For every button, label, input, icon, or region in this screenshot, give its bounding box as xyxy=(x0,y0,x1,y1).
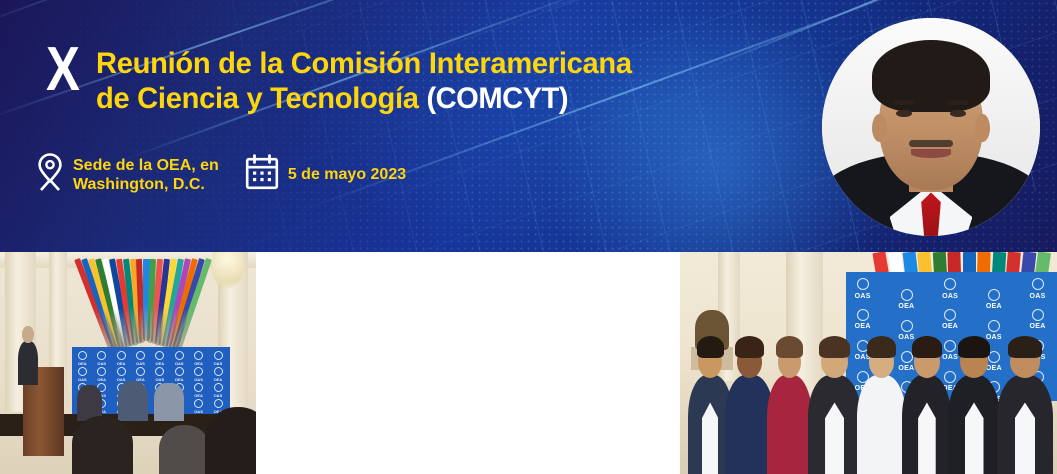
location-text: Sede de la OEA, en Washington, D.C. xyxy=(73,156,219,194)
panelist xyxy=(154,383,185,421)
location-line-2: Washington, D.C. xyxy=(73,175,219,194)
delegate xyxy=(767,336,812,474)
event-banner-composite: X Reunión de la Comisión Interamericana … xyxy=(0,0,1057,474)
audience-head xyxy=(159,425,210,474)
delegate xyxy=(997,336,1054,474)
delegate xyxy=(948,336,1001,474)
map-pin-icon xyxy=(36,152,64,197)
delegate xyxy=(808,336,861,474)
panelist xyxy=(118,381,149,421)
conference-hall-photo: OEAOASOEAOASOEAOASOEAOASOASOEAOASOEAOASO… xyxy=(0,252,256,474)
location-item: Sede de la OEA, en Washington, D.C. xyxy=(36,152,219,197)
photo-and-slide-strip: OEAOASOEAOASOEAOASOEAOASOASOEAOASOEAOASO… xyxy=(0,252,1057,474)
banner-title-block: X Reunión de la Comisión Interamericana … xyxy=(46,44,806,116)
title-acronym: (COMCYT) xyxy=(427,82,569,115)
chandelier xyxy=(212,252,243,288)
portrait-hair xyxy=(872,40,990,112)
header-banner: X Reunión de la Comisión Interamericana … xyxy=(0,0,1057,252)
date-text: 5 de mayo 2023 xyxy=(288,165,406,184)
date-item: 5 de mayo 2023 xyxy=(245,154,406,195)
speaker-at-podium xyxy=(18,341,38,385)
roman-numeral-ten: X xyxy=(46,44,87,96)
audience-head xyxy=(72,416,133,474)
member-state-flags xyxy=(74,259,212,357)
group-photo: OASOEAOASOEAOASOEAOASOEAOASOEAOASOEAOASO… xyxy=(680,252,1057,474)
calendar-icon xyxy=(245,154,279,195)
delegate xyxy=(857,336,906,474)
title-line-2-text: de Ciencia y Tecnología xyxy=(96,82,426,115)
title-line-1: Reunión de la Comisión Interamericana xyxy=(96,46,632,81)
banner-meta-row: Sede de la OEA, en Washington, D.C. xyxy=(36,152,406,197)
title-line-2: de Ciencia y Tecnología (COMCYT) xyxy=(96,81,632,116)
audience-head xyxy=(205,407,256,474)
speaker-portrait-photo xyxy=(822,18,1040,236)
delegate xyxy=(902,336,951,474)
location-line-1: Sede de la OEA, en xyxy=(73,156,219,175)
